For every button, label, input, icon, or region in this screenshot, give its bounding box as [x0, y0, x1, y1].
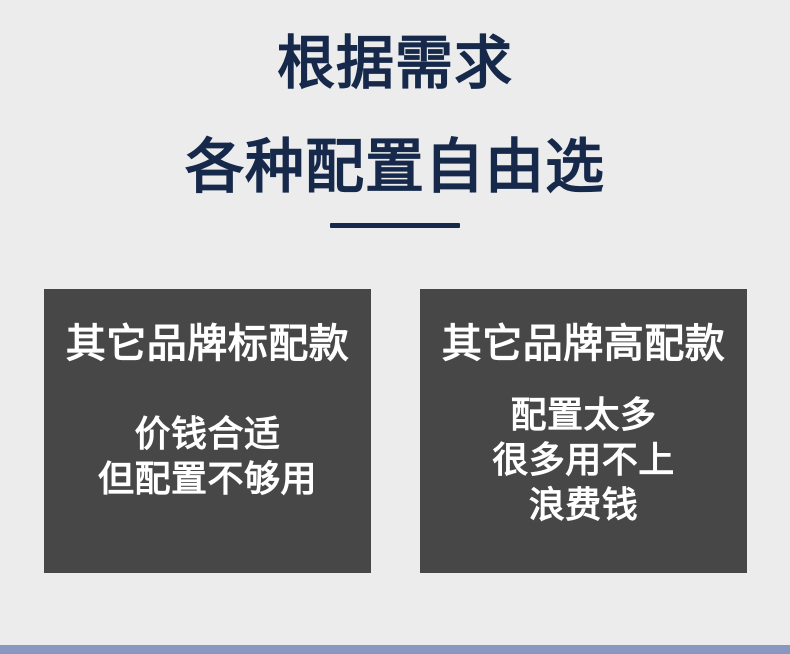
card-body-line: 配置太多	[492, 392, 675, 437]
bottom-accent-bar	[0, 645, 790, 654]
comparison-cards-row: 其它品牌标配款 价钱合适 但配置不够用 其它品牌高配款 配置太多 很多用不上 浪…	[44, 289, 747, 573]
page-title-line-2: 各种配置自由选	[0, 98, 790, 202]
card-body-line: 价钱合适	[98, 411, 317, 456]
card-body: 价钱合适 但配置不够用	[98, 366, 317, 501]
card-standard-config: 其它品牌标配款 价钱合适 但配置不够用	[44, 289, 371, 573]
heading-block: 根据需求 各种配置自由选	[0, 0, 790, 228]
card-body-line: 很多用不上	[492, 437, 675, 482]
card-body-line: 但配置不够用	[98, 456, 317, 501]
title-divider	[330, 223, 460, 228]
card-high-config: 其它品牌高配款 配置太多 很多用不上 浪费钱	[420, 289, 747, 573]
card-title: 其它品牌标配款	[66, 289, 350, 366]
page-title-line-1: 根据需求	[0, 0, 790, 98]
card-body-line: 浪费钱	[492, 482, 675, 527]
promo-banner: 根据需求 各种配置自由选 其它品牌标配款 价钱合适 但配置不够用 其它品牌高配款…	[0, 0, 790, 654]
card-body: 配置太多 很多用不上 浪费钱	[492, 366, 675, 527]
card-title: 其它品牌高配款	[442, 289, 726, 366]
